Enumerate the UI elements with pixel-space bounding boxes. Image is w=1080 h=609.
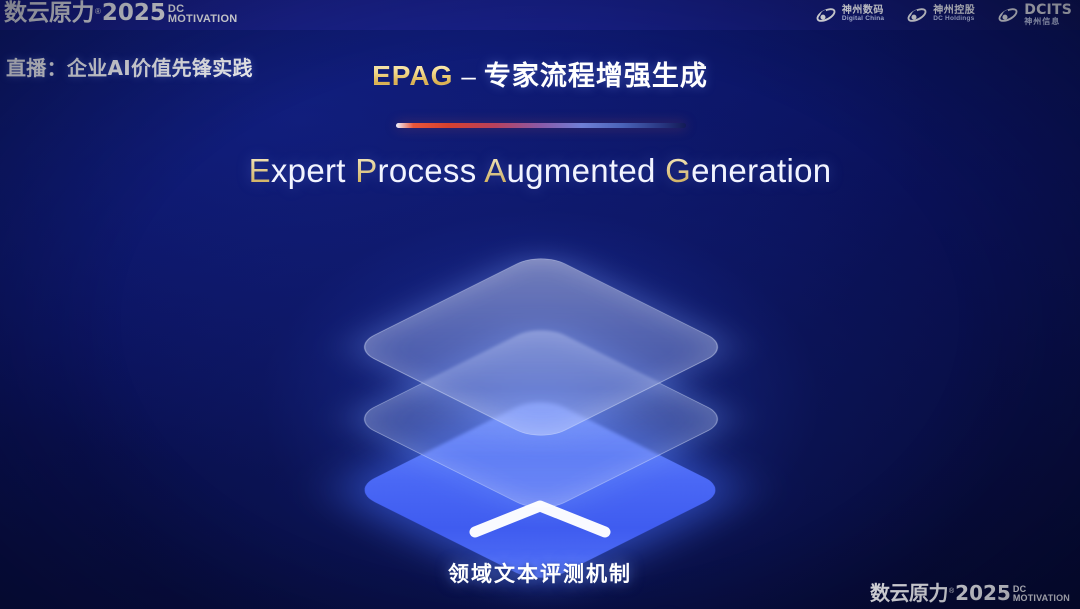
partner-name-en: 神州信息 — [1024, 18, 1072, 26]
partner-name-cn: DCITS — [1024, 3, 1072, 18]
layered-architecture-diagram: 领域文本评测机制 Dynamic MOE 长文本记忆 三类语义建模模块 — [300, 228, 780, 573]
brand-year: 2025 — [102, 2, 166, 25]
partner-name-en: Digital China — [842, 16, 884, 23]
partner-label: DCITS 神州信息 — [1024, 3, 1072, 26]
brand-dc-motivation: DC MOTIVATION — [168, 4, 237, 24]
footer-brand-registered-mark: ® — [949, 588, 954, 595]
footer-brand-name-cn: 数云原力 — [870, 583, 948, 603]
title-acronym: EPAG — [372, 60, 453, 91]
footer-brand-dc-motivation: DC MOTIVATION — [1013, 585, 1070, 602]
swirl-icon — [997, 4, 1019, 26]
subtitle-initial-g: G — [665, 152, 691, 189]
title-dash: – — [461, 61, 475, 91]
footer-brand-motivation-text: MOTIVATION — [1013, 594, 1070, 602]
brand-motivation-text: MOTIVATION — [168, 14, 237, 24]
swirl-icon — [815, 4, 837, 26]
partner-logo-dcits: DCITS 神州信息 — [997, 3, 1072, 26]
brand-registered-mark: ® — [95, 7, 101, 16]
partner-logo-digital-china: 神州数码 Digital China — [815, 4, 884, 26]
subtitle-rest-process: rocess — [378, 152, 477, 189]
partner-logo-group: 神州数码 Digital China 神州控股 DC Holdings — [815, 3, 1072, 26]
subtitle-initial-a: A — [484, 152, 506, 189]
swirl-icon — [906, 4, 928, 26]
subtitle-rest-generation: eneration — [691, 152, 831, 189]
brand-name-cn: 数云原力 — [4, 2, 94, 25]
subtitle-initial-p: P — [355, 152, 377, 189]
title-subtitle-cn: 专家流程增强生成 — [484, 61, 708, 92]
gradient-divider — [396, 123, 686, 128]
subtitle-rest-expert: xpert — [271, 152, 346, 189]
partner-name-en: DC Holdings — [933, 16, 975, 23]
footer-brand-logo: 数云原力 ® 2025 DC MOTIVATION — [870, 583, 1070, 603]
footer-brand-year: 2025 — [955, 583, 1011, 603]
diagram-label-top: 领域文本评测机制 — [300, 558, 780, 588]
page-title: EPAG–专家流程增强生成 — [0, 54, 1080, 93]
subtitle-initial-e: E — [249, 152, 271, 189]
partner-logo-dc-holdings: 神州控股 DC Holdings — [906, 4, 975, 26]
partner-label: 神州控股 DC Holdings — [933, 6, 975, 23]
brand-logo: 数云原力 ® 2025 DC MOTIVATION — [4, 2, 237, 25]
partner-label: 神州数码 Digital China — [842, 6, 884, 23]
subtitle-rest-augmented: ugmented — [507, 152, 656, 189]
slide-canvas: 数云原力 ® 2025 DC MOTIVATION 神州数码 Digital C… — [0, 0, 1080, 609]
english-subtitle: Expert Process Augmented Generation — [0, 152, 1080, 190]
